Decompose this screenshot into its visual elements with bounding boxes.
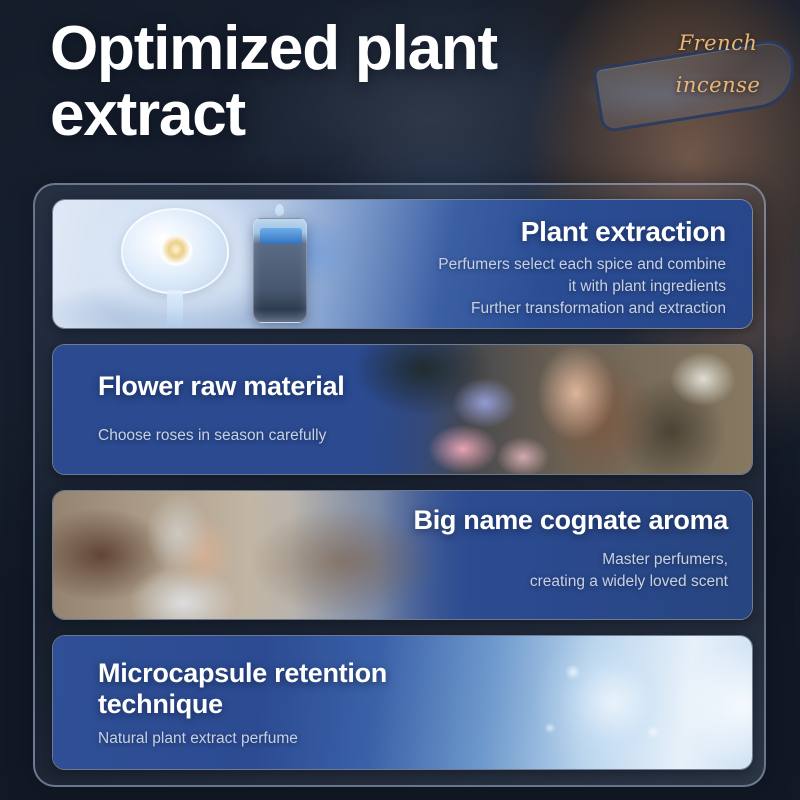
feature-card-microcapsule-retention-technique[interactable]: Microcapsule retention technique Natural…	[52, 635, 753, 770]
card-subtitle-line: Natural plant extract perfume	[98, 728, 298, 750]
brand-script-mark: French incense	[658, 22, 778, 106]
page-title: Optimized plant extract	[50, 16, 610, 148]
card-subtitle: Choose roses in season carefully	[98, 425, 326, 447]
brand-line-2: incense	[658, 64, 778, 106]
card-text-block: Microcapsule retention technique Natural…	[53, 636, 752, 769]
card-text-block: Flower raw material Choose roses in seas…	[53, 345, 752, 474]
feature-card-panel: Plant extraction Perfumers select each s…	[33, 183, 766, 787]
card-subtitle: Natural plant extract perfume	[98, 728, 298, 750]
card-title: Big name cognate aroma	[414, 505, 729, 536]
card-subtitle-line: Choose roses in season carefully	[98, 425, 326, 447]
card-subtitle: Master perfumers, creating a widely love…	[530, 549, 728, 593]
card-subtitle-line: it with plant ingredients	[438, 276, 726, 298]
page-title-line-1: Optimized plant	[50, 16, 610, 82]
page-title-line-2: extract	[50, 82, 610, 148]
brand-line-1: French	[658, 22, 778, 64]
feature-card-plant-extraction[interactable]: Plant extraction Perfumers select each s…	[52, 199, 753, 329]
card-title: Microcapsule retention technique	[98, 658, 428, 720]
product-feature-poster: Optimized plant extract French incense P…	[0, 0, 800, 800]
card-subtitle-line: creating a widely loved scent	[530, 571, 728, 593]
card-subtitle: Perfumers select each spice and combine …	[438, 254, 726, 320]
feature-card-flower-raw-material[interactable]: Flower raw material Choose roses in seas…	[52, 344, 753, 475]
card-title: Flower raw material	[98, 371, 344, 402]
card-subtitle-line: Master perfumers,	[530, 549, 728, 571]
card-text-block: Plant extraction Perfumers select each s…	[53, 200, 752, 328]
card-title: Plant extraction	[521, 216, 726, 248]
card-subtitle-line: Perfumers select each spice and combine	[438, 254, 726, 276]
card-text-block: Big name cognate aroma Master perfumers,…	[53, 491, 752, 619]
feature-card-big-name-cognate-aroma[interactable]: Big name cognate aroma Master perfumers,…	[52, 490, 753, 620]
card-subtitle-line: Further transformation and extraction	[438, 298, 726, 320]
